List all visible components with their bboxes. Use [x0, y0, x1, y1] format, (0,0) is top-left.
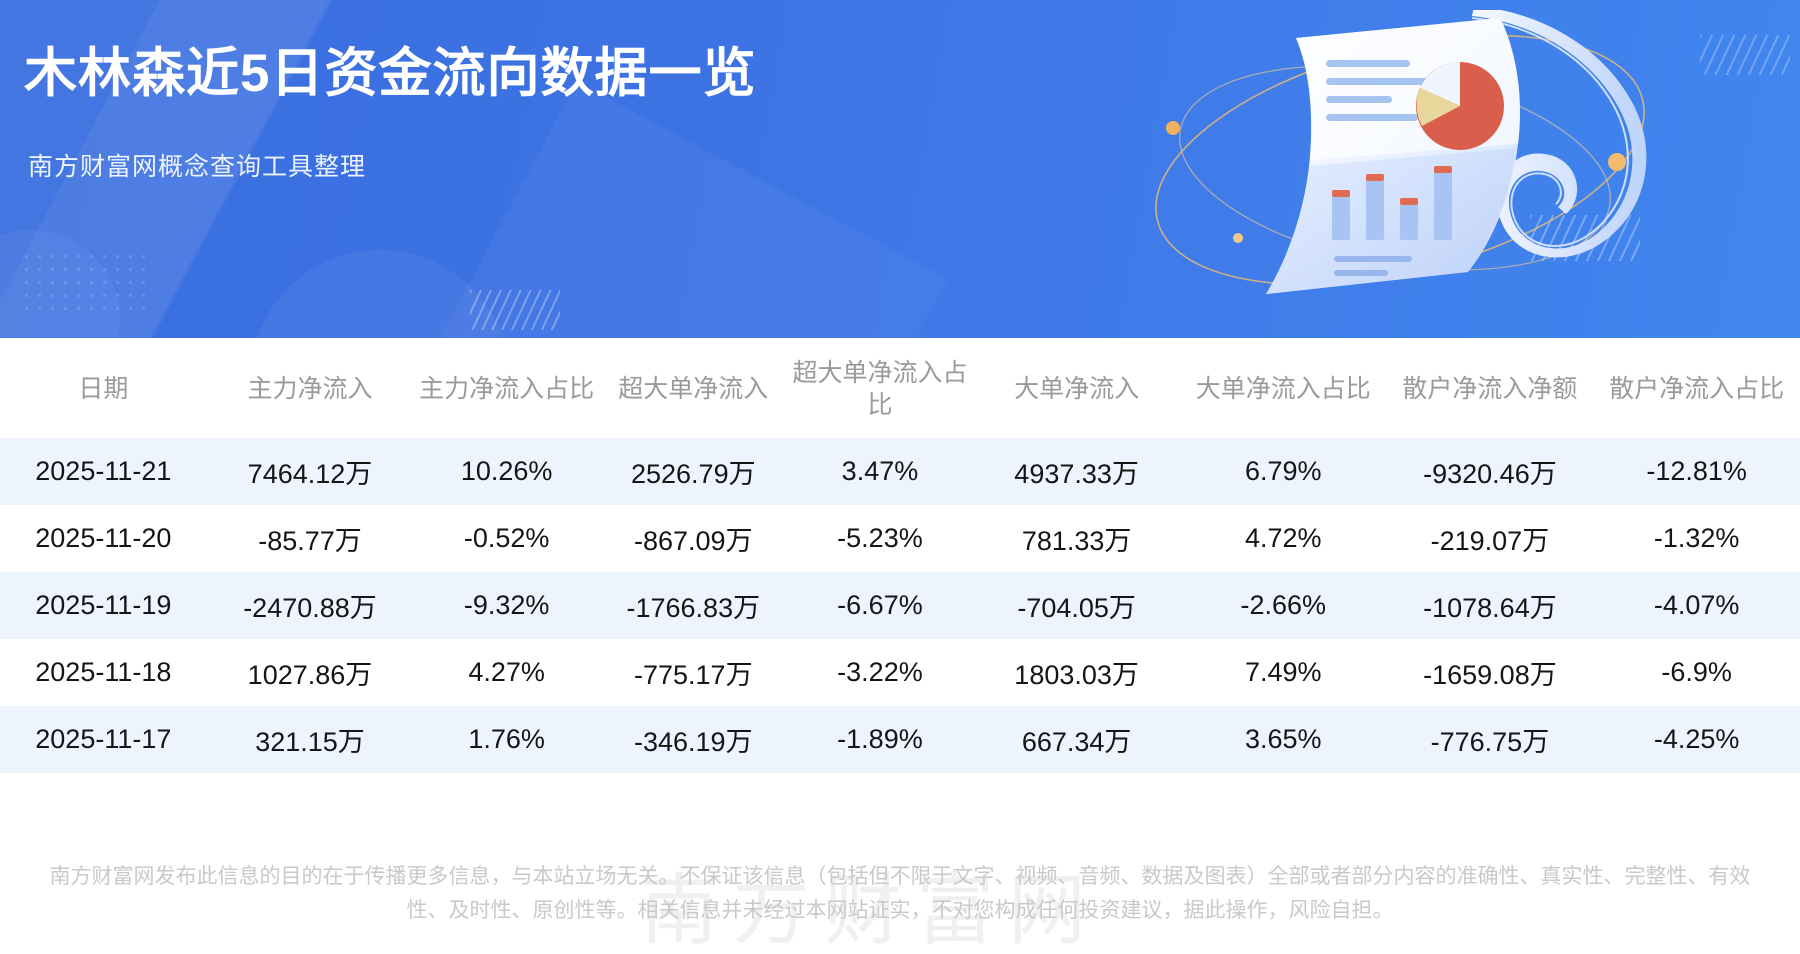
cell-retail-net: -1078.64万	[1387, 572, 1594, 639]
col-header-large-pct: 大单净流入占比	[1180, 338, 1387, 438]
cell-large-net: 4937.33万	[973, 438, 1180, 505]
cell-retail-pct: -6.9%	[1593, 639, 1800, 706]
cell-large-pct: -2.66%	[1180, 572, 1387, 639]
banner-text-block: 木林森近5日资金流向数据一览 南方财富网概念查询工具整理	[24, 44, 756, 183]
cell-retail-net: -9320.46万	[1387, 438, 1594, 505]
cell-large-net: -704.05万	[973, 572, 1180, 639]
cell-date: 2025-11-20	[0, 505, 207, 572]
table-header-row: 日期 主力净流入 主力净流入占比 超大单净流入 超大单净流入占比 大单净流入 大…	[0, 338, 1800, 438]
cell-xlarge-pct: -1.89%	[787, 706, 974, 773]
cell-large-pct: 6.79%	[1180, 438, 1387, 505]
cell-xlarge-pct: 3.47%	[787, 438, 974, 505]
table-row: 2025-11-18 1027.86万 4.27% -775.17万 -3.22…	[0, 639, 1800, 706]
col-header-xlarge-pct: 超大单净流入占比	[787, 338, 974, 438]
fund-flow-table: 日期 主力净流入 主力净流入占比 超大单净流入 超大单净流入占比 大单净流入 大…	[0, 338, 1800, 773]
cell-main-pct: -0.52%	[413, 505, 600, 572]
cell-main-net: 7464.12万	[207, 438, 414, 505]
col-header-main-pct: 主力净流入占比	[413, 338, 600, 438]
cell-retail-net: -219.07万	[1387, 505, 1594, 572]
cell-large-net: 781.33万	[973, 505, 1180, 572]
page-subtitle: 南方财富网概念查询工具整理	[28, 147, 756, 183]
banner-circle-decor-1	[250, 250, 510, 338]
banner-stripe-decor-3	[1700, 35, 1790, 75]
cell-date: 2025-11-18	[0, 639, 207, 706]
col-header-retail-net: 散户净流入净额	[1387, 338, 1594, 438]
cell-main-net: 321.15万	[207, 706, 414, 773]
cell-main-pct: 1.76%	[413, 706, 600, 773]
cell-retail-net: -776.75万	[1387, 706, 1594, 773]
banner-dot-grid-decor	[20, 250, 150, 320]
col-header-date: 日期	[0, 338, 207, 438]
col-header-large-net: 大单净流入	[973, 338, 1180, 438]
page-root: 木林森近5日资金流向数据一览 南方财富网概念查询工具整理	[0, 0, 1800, 954]
table-row: 2025-11-19 -2470.88万 -9.32% -1766.83万 -6…	[0, 572, 1800, 639]
cell-large-net: 1803.03万	[973, 639, 1180, 706]
watermark-en-text: southmoney.com	[640, 946, 1100, 954]
cell-retail-net: -1659.08万	[1387, 639, 1594, 706]
cell-main-pct: -9.32%	[413, 572, 600, 639]
cell-large-pct: 3.65%	[1180, 706, 1387, 773]
cell-xlarge-net: -775.17万	[600, 639, 787, 706]
cell-retail-pct: -12.81%	[1593, 438, 1800, 505]
cell-xlarge-pct: -6.67%	[787, 572, 974, 639]
cell-main-pct: 10.26%	[413, 438, 600, 505]
table-body: 2025-11-21 7464.12万 10.26% 2526.79万 3.47…	[0, 438, 1800, 773]
cell-date: 2025-11-21	[0, 438, 207, 505]
cell-main-net: -85.77万	[207, 505, 414, 572]
cell-retail-pct: -1.32%	[1593, 505, 1800, 572]
table-row: 2025-11-21 7464.12万 10.26% 2526.79万 3.47…	[0, 438, 1800, 505]
banner-stripe-decor-1	[470, 290, 560, 330]
cell-main-net: 1027.86万	[207, 639, 414, 706]
cell-large-net: 667.34万	[973, 706, 1180, 773]
fund-flow-table-container: 南方财富网 southmoney.com 日期 主力净流入 主力净流入占比 超大…	[0, 338, 1800, 773]
table-head: 日期 主力净流入 主力净流入占比 超大单净流入 超大单净流入占比 大单净流入 大…	[0, 338, 1800, 438]
cell-retail-pct: -4.25%	[1593, 706, 1800, 773]
disclaimer-footer: 南方财富网发布此信息的目的在于传播更多信息，与本站立场无关。不保证该信息（包括但…	[0, 860, 1800, 928]
page-title: 木林森近5日资金流向数据一览	[24, 44, 756, 105]
cell-xlarge-pct: -3.22%	[787, 639, 974, 706]
cell-main-net: -2470.88万	[207, 572, 414, 639]
financial-report-illustration	[1120, 10, 1680, 310]
cell-xlarge-net: -1766.83万	[600, 572, 787, 639]
table-row: 2025-11-17 321.15万 1.76% -346.19万 -1.89%…	[0, 706, 1800, 773]
disclaimer-line-2: 性、及时性、原创性等。相关信息并未经过本网站证实，不对您构成任何投资建议，据此操…	[14, 894, 1786, 928]
col-header-xlarge-net: 超大单净流入	[600, 338, 787, 438]
cell-xlarge-net: 2526.79万	[600, 438, 787, 505]
cell-xlarge-net: -867.09万	[600, 505, 787, 572]
disclaimer-line-1: 南方财富网发布此信息的目的在于传播更多信息，与本站立场无关。不保证该信息（包括但…	[14, 860, 1786, 894]
header-banner: 木林森近5日资金流向数据一览 南方财富网概念查询工具整理	[0, 0, 1800, 338]
col-header-main-net: 主力净流入	[207, 338, 414, 438]
cell-xlarge-pct: -5.23%	[787, 505, 974, 572]
cell-xlarge-net: -346.19万	[600, 706, 787, 773]
cell-retail-pct: -4.07%	[1593, 572, 1800, 639]
cell-date: 2025-11-17	[0, 706, 207, 773]
cell-date: 2025-11-19	[0, 572, 207, 639]
col-header-retail-pct: 散户净流入占比	[1593, 338, 1800, 438]
cell-large-pct: 7.49%	[1180, 639, 1387, 706]
cell-main-pct: 4.27%	[413, 639, 600, 706]
cell-large-pct: 4.72%	[1180, 505, 1387, 572]
table-row: 2025-11-20 -85.77万 -0.52% -867.09万 -5.23…	[0, 505, 1800, 572]
banner-circle-decor-2	[0, 230, 120, 338]
